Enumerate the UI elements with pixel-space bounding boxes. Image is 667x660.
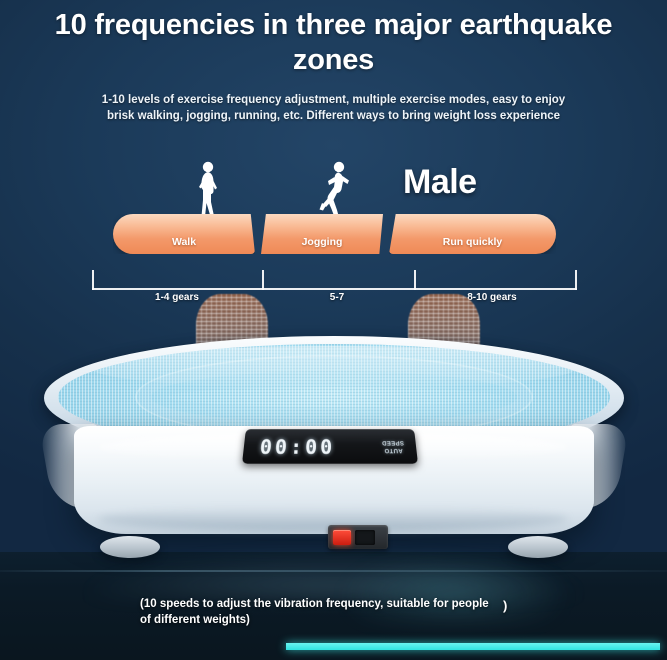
led-display-panel[interactable]: 00:00 AUTO SPEED [242, 429, 418, 464]
machine-foot-right [508, 536, 568, 558]
walking-person-icon [192, 160, 226, 220]
page-subtitle: 1-10 levels of exercise frequency adjust… [0, 92, 667, 125]
running-person-icon [317, 160, 355, 220]
activity-segment-walk[interactable]: Walk [113, 214, 255, 254]
activity-segment-jogging[interactable]: Jogging [261, 214, 383, 254]
power-switch-icon[interactable] [333, 530, 351, 545]
bracket-tick [262, 270, 264, 290]
activity-segment-label: Walk [113, 236, 255, 248]
bracket-baseline [92, 288, 577, 290]
led-side-labels: AUTO SPEED [375, 435, 411, 458]
vibration-plate-machine: 00:00 AUTO SPEED [28, 330, 640, 570]
floor-edge-line [0, 570, 667, 572]
footer-stray-paren: ) [503, 598, 507, 613]
accent-bar [286, 643, 660, 650]
product-promo-image: 10 frequencies in three major earthquake… [0, 0, 667, 660]
bracket-tick [92, 270, 94, 290]
machine-foot-left [100, 536, 160, 558]
led-label-auto: AUTO [376, 447, 411, 453]
gear-scale-labels: 1-4 gears 5-7 8-10 gears [92, 292, 577, 308]
led-time-value: 00:00 [259, 436, 335, 459]
page-title: 10 frequencies in three major earthquake… [0, 8, 667, 79]
plate-gloss [91, 346, 577, 388]
gear-scale-bracket [92, 268, 577, 290]
bracket-tick [414, 270, 416, 290]
power-switch-plate[interactable] [328, 525, 388, 549]
footer-caption: (10 speeds to adjust the vibration frequ… [140, 596, 500, 629]
activity-segment-label: Run quickly [389, 236, 556, 248]
gender-label: Male [403, 163, 477, 202]
power-socket-icon [355, 530, 375, 545]
activity-level-bar: Walk Jogging Run quickly [113, 214, 556, 254]
gear-label: 5-7 [282, 292, 392, 303]
led-label-speed: SPEED [376, 439, 410, 445]
activity-segment-run-quickly[interactable]: Run quickly [389, 214, 556, 254]
activity-segment-label: Jogging [261, 236, 383, 248]
bracket-tick [575, 270, 577, 290]
